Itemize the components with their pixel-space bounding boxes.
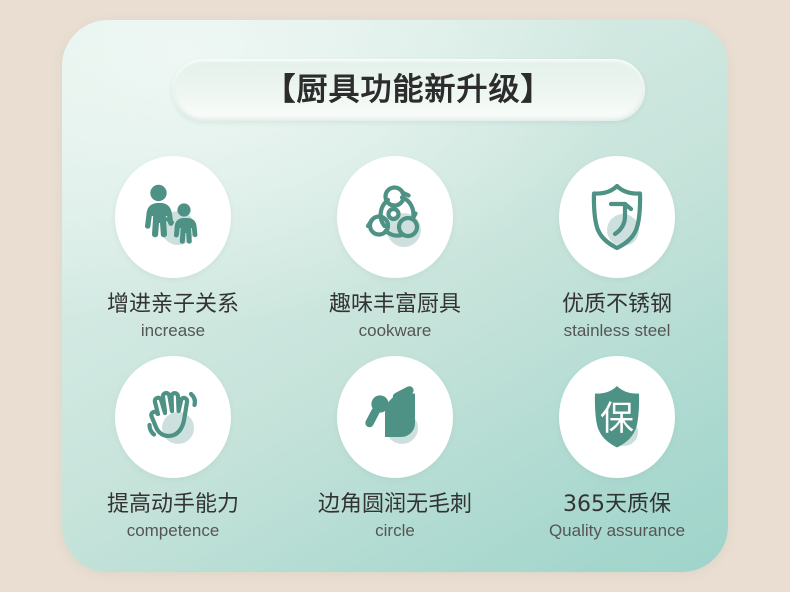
rounded-corner-icon [356, 378, 434, 456]
feature-item-competence[interactable]: 提高动手能力 competence [62, 356, 284, 556]
feature-label-en: cookware [359, 322, 432, 341]
shield-pot-icon [578, 178, 656, 256]
feature-item-cookware[interactable]: 趣味丰富厨具 cookware [284, 156, 506, 356]
icon-disc [115, 356, 231, 478]
feature-label-cn: 365天质保 [563, 493, 671, 517]
feature-grid: 增进亲子关系 increase [62, 156, 728, 556]
feature-item-increase[interactable]: 增进亲子关系 increase [62, 156, 284, 356]
feature-item-quality-assurance[interactable]: 保 365天质保 Quality assurance [506, 356, 728, 556]
feature-label-en: stainless steel [564, 322, 671, 341]
feature-label-en: increase [141, 322, 205, 341]
icon-disc [115, 156, 231, 278]
waving-hand-icon [134, 378, 212, 456]
icon-disc: 保 [559, 356, 675, 478]
feature-item-circle[interactable]: 边角圆润无毛刺 circle [284, 356, 506, 556]
title-banner: 【厨具功能新升级】 [172, 59, 645, 121]
parent-child-icon [134, 178, 212, 256]
page-title: 【厨具功能新升级】 [265, 75, 553, 106]
feature-label-cn: 边角圆润无毛刺 [318, 493, 472, 517]
feature-item-stainless-steel[interactable]: 优质不锈钢 stainless steel [506, 156, 728, 356]
promo-card: 【厨具功能新升级】 增进亲子关系 increase [62, 20, 728, 572]
feature-label-cn: 提高动手能力 [107, 493, 239, 517]
icon-disc [337, 356, 453, 478]
icon-disc [337, 156, 453, 278]
feature-label-cn: 增进亲子关系 [107, 293, 239, 317]
bao-glyph: 保 [600, 399, 634, 439]
feature-label-en: circle [375, 522, 415, 541]
three-pans-icon [356, 178, 434, 256]
feature-label-en: Quality assurance [549, 522, 685, 541]
feature-label-cn: 优质不锈钢 [562, 293, 672, 317]
shield-bao-icon: 保 [578, 378, 656, 456]
feature-label-en: competence [127, 522, 220, 541]
feature-label-cn: 趣味丰富厨具 [329, 293, 461, 317]
icon-disc [559, 156, 675, 278]
